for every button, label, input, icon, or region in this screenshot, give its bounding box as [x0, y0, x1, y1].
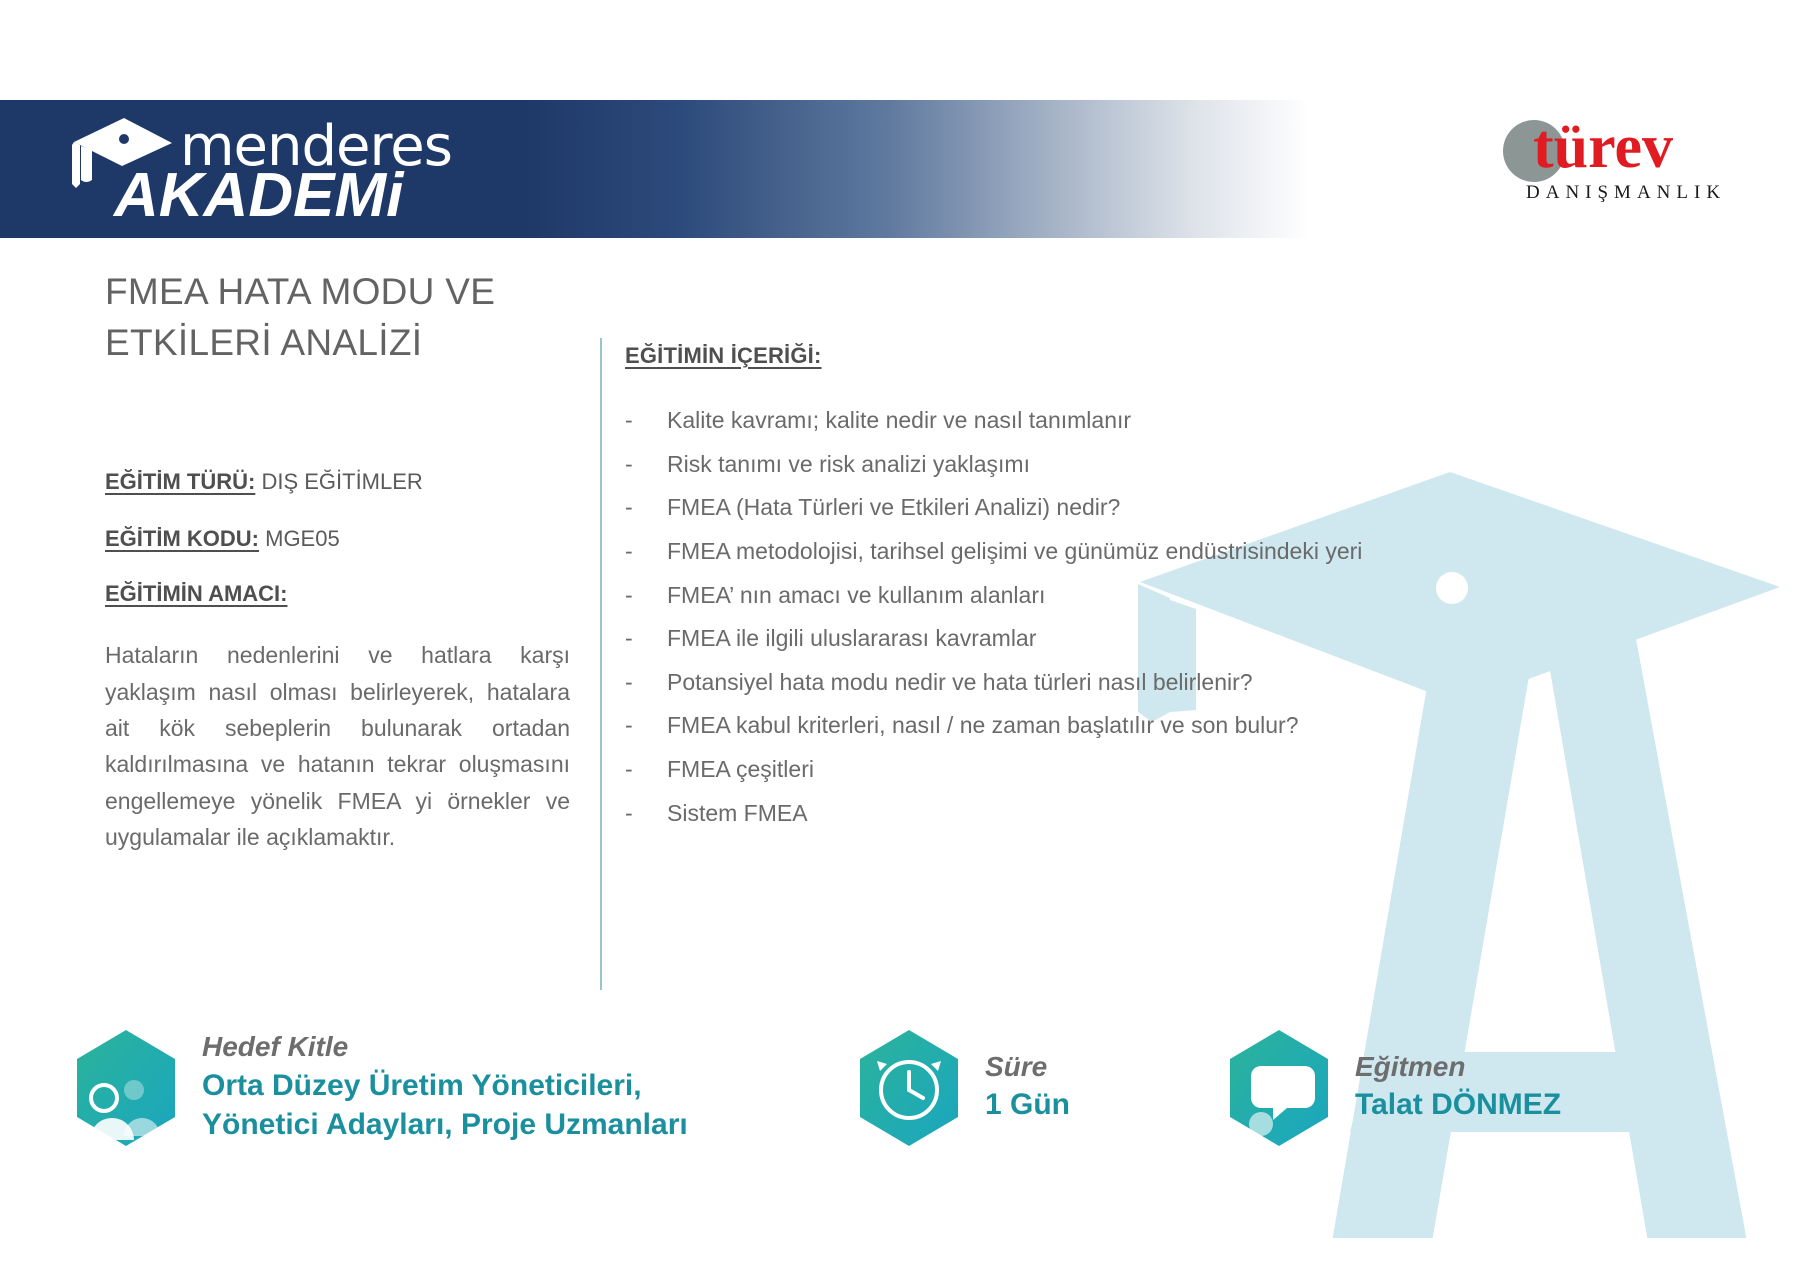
page-title: FMEA HATA MODU VE ETKİLERİ ANALİZİ	[105, 266, 535, 368]
audience-value-line1: Orta Düzey Üretim Yöneticileri,	[202, 1066, 688, 1106]
dash-marker: -	[625, 403, 667, 439]
turev-wordmark: türev	[1533, 112, 1673, 183]
badge-audience: Hedef Kitle Orta Düzey Üretim Yöneticile…	[72, 1028, 688, 1148]
audience-hex	[72, 1028, 180, 1148]
training-code-label: EĞİTİM KODU:	[105, 526, 259, 551]
list-item: - FMEA kabul kriterleri, nasıl / ne zama…	[625, 708, 1365, 744]
dash-marker: -	[625, 796, 667, 832]
right-column: EĞİTİMİN İÇERİĞİ: - Kalite kavramı; kali…	[625, 343, 1365, 839]
people-icon	[72, 1028, 180, 1148]
training-code-value: MGE05	[259, 526, 340, 551]
audience-text: Hedef Kitle Orta Düzey Üretim Yöneticile…	[202, 1031, 688, 1144]
list-item: - Risk tanımı ve risk analizi yaklaşımı	[625, 447, 1365, 483]
speech-bubble-icon	[1225, 1028, 1333, 1148]
training-code-row: EĞİTİM KODU: MGE05	[105, 525, 570, 554]
logo-wordmark-akademi: AKADEMi	[114, 160, 403, 231]
dash-marker: -	[625, 534, 667, 570]
purpose-body: Hataların nedenlerini ve hatlara karşı y…	[105, 637, 570, 855]
dash-marker: -	[625, 578, 667, 614]
list-item-text: FMEA kabul kriterleri, nasıl / ne zaman …	[667, 708, 1365, 744]
turev-danismanlik-logo: türev DANIŞMANLIK	[1478, 118, 1728, 218]
list-item-text: Sistem FMEA	[667, 796, 1365, 832]
content-area: FMEA HATA MODU VE ETKİLERİ ANALİZİ EĞİTİ…	[0, 238, 1800, 1018]
training-type-value: DIŞ EĞİTİMLER	[255, 469, 422, 494]
list-item: - Sistem FMEA	[625, 796, 1365, 832]
list-item: - Potansiyel hata modu nedir ve hata tür…	[625, 665, 1365, 701]
duration-text: Süre 1 Gün	[985, 1051, 1070, 1125]
dash-marker: -	[625, 665, 667, 701]
dash-marker: -	[625, 490, 667, 526]
purpose-heading: EĞİTİMİN AMACI:	[105, 581, 570, 607]
list-item-text: FMEA çeşitleri	[667, 752, 1365, 788]
list-item: - Kalite kavramı; kalite nedir ve nasıl …	[625, 403, 1365, 439]
duration-hex	[855, 1028, 963, 1148]
list-item: - FMEA’ nın amacı ve kullanım alanları	[625, 578, 1365, 614]
trainer-label: Eğitmen	[1355, 1051, 1561, 1083]
list-item-text: Potansiyel hata modu nedir ve hata türle…	[667, 665, 1365, 701]
clock-icon	[855, 1028, 963, 1148]
list-item: - FMEA metodolojisi, tarihsel gelişimi v…	[625, 534, 1365, 570]
duration-label: Süre	[985, 1051, 1070, 1083]
list-item: - FMEA ile ilgili uluslararası kavramlar	[625, 621, 1365, 657]
dash-marker: -	[625, 621, 667, 657]
dash-marker: -	[625, 708, 667, 744]
list-item: - FMEA (Hata Türleri ve Etkileri Analizi…	[625, 490, 1365, 526]
list-item-text: Risk tanımı ve risk analizi yaklaşımı	[667, 447, 1365, 483]
training-course-sheet: menderes AKADEMi türev DANIŞMANLIK FMEA …	[0, 0, 1800, 1272]
duration-value: 1 Gün	[985, 1085, 1070, 1125]
dash-marker: -	[625, 752, 667, 788]
audience-value-line2: Yönetici Adayları, Proje Uzmanları	[202, 1105, 688, 1145]
turev-subtitle: DANIŞMANLIK	[1526, 182, 1726, 204]
list-item: - FMEA çeşitleri	[625, 752, 1365, 788]
trainer-text: Eğitmen Talat DÖNMEZ	[1355, 1051, 1561, 1125]
list-item-text: FMEA’ nın amacı ve kullanım alanları	[667, 578, 1365, 614]
dash-marker: -	[625, 447, 667, 483]
content-heading: EĞİTİMİN İÇERİĞİ:	[625, 343, 1365, 369]
footer-badges: Hedef Kitle Orta Düzey Üretim Yöneticile…	[0, 1018, 1800, 1218]
list-item-text: FMEA (Hata Türleri ve Etkileri Analizi) …	[667, 490, 1365, 526]
bottom-strip	[0, 1238, 1800, 1272]
training-type-row: EĞİTİM TÜRÜ: DIŞ EĞİTİMLER	[105, 468, 570, 497]
list-item-text: Kalite kavramı; kalite nedir ve nasıl ta…	[667, 403, 1365, 439]
content-list: - Kalite kavramı; kalite nedir ve nasıl …	[625, 403, 1365, 831]
training-type-label: EĞİTİM TÜRÜ:	[105, 469, 255, 494]
list-item-text: FMEA metodolojisi, tarihsel gelişimi ve …	[667, 534, 1365, 570]
audience-label: Hedef Kitle	[202, 1031, 688, 1063]
column-divider	[600, 338, 602, 990]
badge-duration: Süre 1 Gün	[855, 1028, 1070, 1148]
trainer-hex	[1225, 1028, 1333, 1148]
trainer-value: Talat DÖNMEZ	[1355, 1085, 1561, 1125]
badge-trainer: Eğitmen Talat DÖNMEZ	[1225, 1028, 1561, 1148]
left-column: EĞİTİM TÜRÜ: DIŞ EĞİTİMLER EĞİTİM KODU: …	[105, 468, 570, 855]
list-item-text: FMEA ile ilgili uluslararası kavramlar	[667, 621, 1365, 657]
